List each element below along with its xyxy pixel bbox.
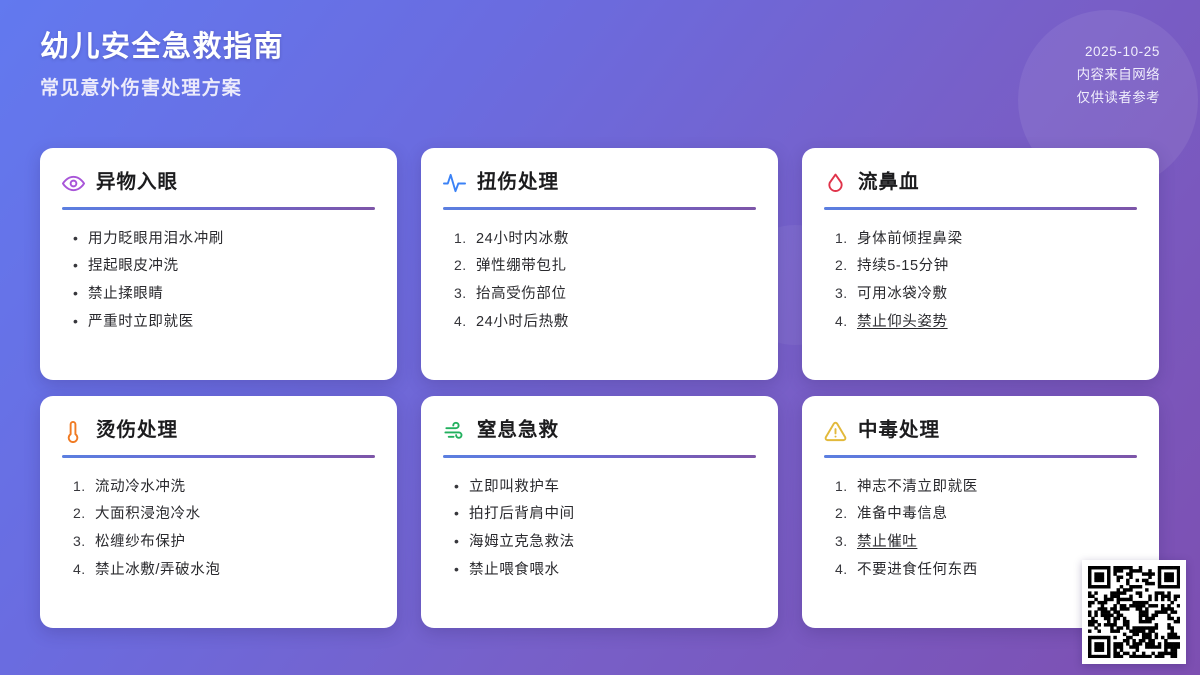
list-number: 3. (73, 534, 88, 549)
list-number: 1. (835, 231, 850, 246)
card-divider (443, 455, 756, 458)
list-number: 1. (454, 231, 469, 246)
card-title: 烫伤处理 (96, 421, 178, 441)
list-number: 4. (835, 562, 850, 577)
page-header: 幼儿安全急救指南 常见意外伤害处理方案 2025-10-25 内容来自网络 仅供… (0, 0, 1200, 132)
list-number: 4. (454, 314, 469, 329)
source-note: 内容来自网络 (1077, 63, 1160, 86)
list-number: 1. (835, 479, 850, 494)
card-item-list: 1.24小时内冰敷2.弹性绷带包扎3.抬高受伤部位4.24小时后热敷 (443, 225, 756, 337)
activity-pulse-icon (443, 172, 466, 195)
list-item-text: 用力眨眼用泪水冲刷 (88, 232, 224, 248)
list-bullet-icon: • (454, 479, 462, 494)
list-bullet-icon: • (454, 506, 462, 521)
header-meta: 2025-10-25 内容来自网络 仅供读者参考 (1077, 28, 1160, 110)
card-divider (824, 455, 1137, 458)
card-divider (824, 207, 1137, 210)
list-item-text: 24小时后热敷 (476, 315, 569, 331)
list-item: 4.禁止冰敷/弄破水泡 (62, 557, 375, 585)
list-item: 4.禁止仰头姿势 (824, 309, 1137, 337)
card-header: 窒息急救 (443, 416, 756, 446)
card-header: 流鼻血 (824, 168, 1137, 198)
list-item: 1.身体前倾捏鼻梁 (824, 225, 1137, 253)
list-bullet-icon: • (73, 231, 81, 246)
topic-card: 烫伤处理1.流动冷水冲洗2.大面积浸泡冷水3.松缠纱布保护4.禁止冰敷/弄破水泡 (40, 396, 397, 628)
card-title: 流鼻血 (858, 173, 920, 193)
page-subtitle: 常见意外伤害处理方案 (40, 76, 284, 102)
list-item-text: 松缠纱布保护 (95, 535, 186, 551)
list-number: 2. (73, 506, 88, 521)
list-item-text: 立即叫救护车 (469, 480, 560, 496)
list-item-text: 严重时立即就医 (88, 315, 194, 331)
card-item-list: 1.身体前倾捏鼻梁2.持续5-15分钟3.可用冰袋冷敷4.禁止仰头姿势 (824, 225, 1137, 337)
list-number: 2. (835, 258, 850, 273)
page-title: 幼儿安全急救指南 (40, 28, 284, 67)
list-item: •立即叫救护车 (443, 473, 756, 501)
list-item: •禁止揉眼睛 (62, 281, 375, 309)
card-item-list: •立即叫救护车•拍打后背肩中间•海姆立克急救法•禁止喂食喂水 (443, 473, 756, 585)
list-item: 1.神志不清立即就医 (824, 473, 1137, 501)
list-item-text: 拍打后背肩中间 (469, 507, 575, 523)
publish-date: 2025-10-25 (1077, 40, 1160, 63)
list-item-text: 24小时内冰敷 (476, 232, 569, 248)
card-header: 中毒处理 (824, 416, 1137, 446)
topic-card: 扭伤处理1.24小时内冰敷2.弹性绷带包扎3.抬高受伤部位4.24小时后热敷 (421, 148, 778, 380)
list-number: 3. (835, 534, 850, 549)
list-bullet-icon: • (73, 314, 81, 329)
list-number: 3. (454, 286, 469, 301)
card-divider (443, 207, 756, 210)
topic-card: 流鼻血1.身体前倾捏鼻梁2.持续5-15分钟3.可用冰袋冷敷4.禁止仰头姿势 (802, 148, 1159, 380)
eye-icon (62, 172, 85, 195)
card-divider (62, 455, 375, 458)
list-item: 2.弹性绷带包扎 (443, 253, 756, 281)
title-block: 幼儿安全急救指南 常见意外伤害处理方案 (40, 28, 284, 102)
list-item-text: 海姆立克急救法 (469, 535, 575, 551)
list-item-text: 大面积浸泡冷水 (95, 507, 201, 523)
list-item: •拍打后背肩中间 (443, 501, 756, 529)
topic-card: 窒息急救•立即叫救护车•拍打后背肩中间•海姆立克急救法•禁止喂食喂水 (421, 396, 778, 628)
list-item: •海姆立克急救法 (443, 529, 756, 557)
list-bullet-icon: • (73, 258, 81, 273)
list-item-text: 禁止冰敷/弄破水泡 (95, 563, 220, 579)
list-item: 1.流动冷水冲洗 (62, 473, 375, 501)
list-item-text: 禁止喂食喂水 (469, 563, 560, 579)
thermometer-icon (62, 420, 85, 443)
card-title: 扭伤处理 (477, 173, 559, 193)
list-item-text: 弹性绷带包扎 (476, 259, 567, 275)
list-item: 2.持续5-15分钟 (824, 253, 1137, 281)
topic-card: 异物入眼•用力眨眼用泪水冲刷•捏起眼皮冲洗•禁止揉眼睛•严重时立即就医 (40, 148, 397, 380)
list-item: 3.松缠纱布保护 (62, 529, 375, 557)
list-item: •禁止喂食喂水 (443, 557, 756, 585)
list-item-text: 禁止仰头姿势 (857, 315, 948, 331)
card-item-list: •用力眨眼用泪水冲刷•捏起眼皮冲洗•禁止揉眼睛•严重时立即就医 (62, 225, 375, 337)
list-item-text: 抬高受伤部位 (476, 287, 567, 303)
blood-droplet-icon (824, 172, 847, 195)
list-item-text: 身体前倾捏鼻梁 (857, 232, 963, 248)
list-item: 2.准备中毒信息 (824, 501, 1137, 529)
card-header: 烫伤处理 (62, 416, 375, 446)
list-item-text: 流动冷水冲洗 (95, 480, 186, 496)
card-grid: 异物入眼•用力眨眼用泪水冲刷•捏起眼皮冲洗•禁止揉眼睛•严重时立即就医扭伤处理1… (40, 148, 1160, 628)
list-number: 2. (454, 258, 469, 273)
list-item: 1.24小时内冰敷 (443, 225, 756, 253)
list-item: 4.24小时后热敷 (443, 309, 756, 337)
list-number: 2. (835, 506, 850, 521)
list-item: 3.禁止催吐 (824, 529, 1137, 557)
list-item-text: 禁止揉眼睛 (88, 287, 164, 303)
list-bullet-icon: • (73, 286, 81, 301)
list-item: 2.大面积浸泡冷水 (62, 501, 375, 529)
card-title: 窒息急救 (477, 421, 559, 441)
list-item-text: 不要进食任何东西 (857, 563, 978, 579)
qr-code[interactable] (1082, 560, 1186, 664)
card-item-list: 1.流动冷水冲洗2.大面积浸泡冷水3.松缠纱布保护4.禁止冰敷/弄破水泡 (62, 473, 375, 585)
wind-icon (443, 420, 466, 443)
list-item: •用力眨眼用泪水冲刷 (62, 225, 375, 253)
card-title: 异物入眼 (96, 173, 178, 193)
list-item-text: 神志不清立即就医 (857, 480, 978, 496)
list-bullet-icon: • (454, 534, 462, 549)
card-title: 中毒处理 (858, 421, 940, 441)
list-number: 4. (73, 562, 88, 577)
list-item: 3.抬高受伤部位 (443, 281, 756, 309)
list-bullet-icon: • (454, 562, 462, 577)
list-number: 1. (73, 479, 88, 494)
list-item: 3.可用冰袋冷敷 (824, 281, 1137, 309)
list-item-text: 准备中毒信息 (857, 507, 948, 523)
list-number: 4. (835, 314, 850, 329)
card-divider (62, 207, 375, 210)
list-number: 3. (835, 286, 850, 301)
list-item: •严重时立即就医 (62, 309, 375, 337)
disclaimer-note: 仅供读者参考 (1077, 86, 1160, 109)
list-item-text: 捏起眼皮冲洗 (88, 259, 179, 275)
list-item: •捏起眼皮冲洗 (62, 253, 375, 281)
card-header: 扭伤处理 (443, 168, 756, 198)
list-item-text: 持续5-15分钟 (857, 259, 949, 275)
list-item-text: 禁止催吐 (857, 535, 917, 551)
warning-triangle-icon (824, 420, 847, 443)
card-header: 异物入眼 (62, 168, 375, 198)
list-item-text: 可用冰袋冷敷 (857, 287, 948, 303)
